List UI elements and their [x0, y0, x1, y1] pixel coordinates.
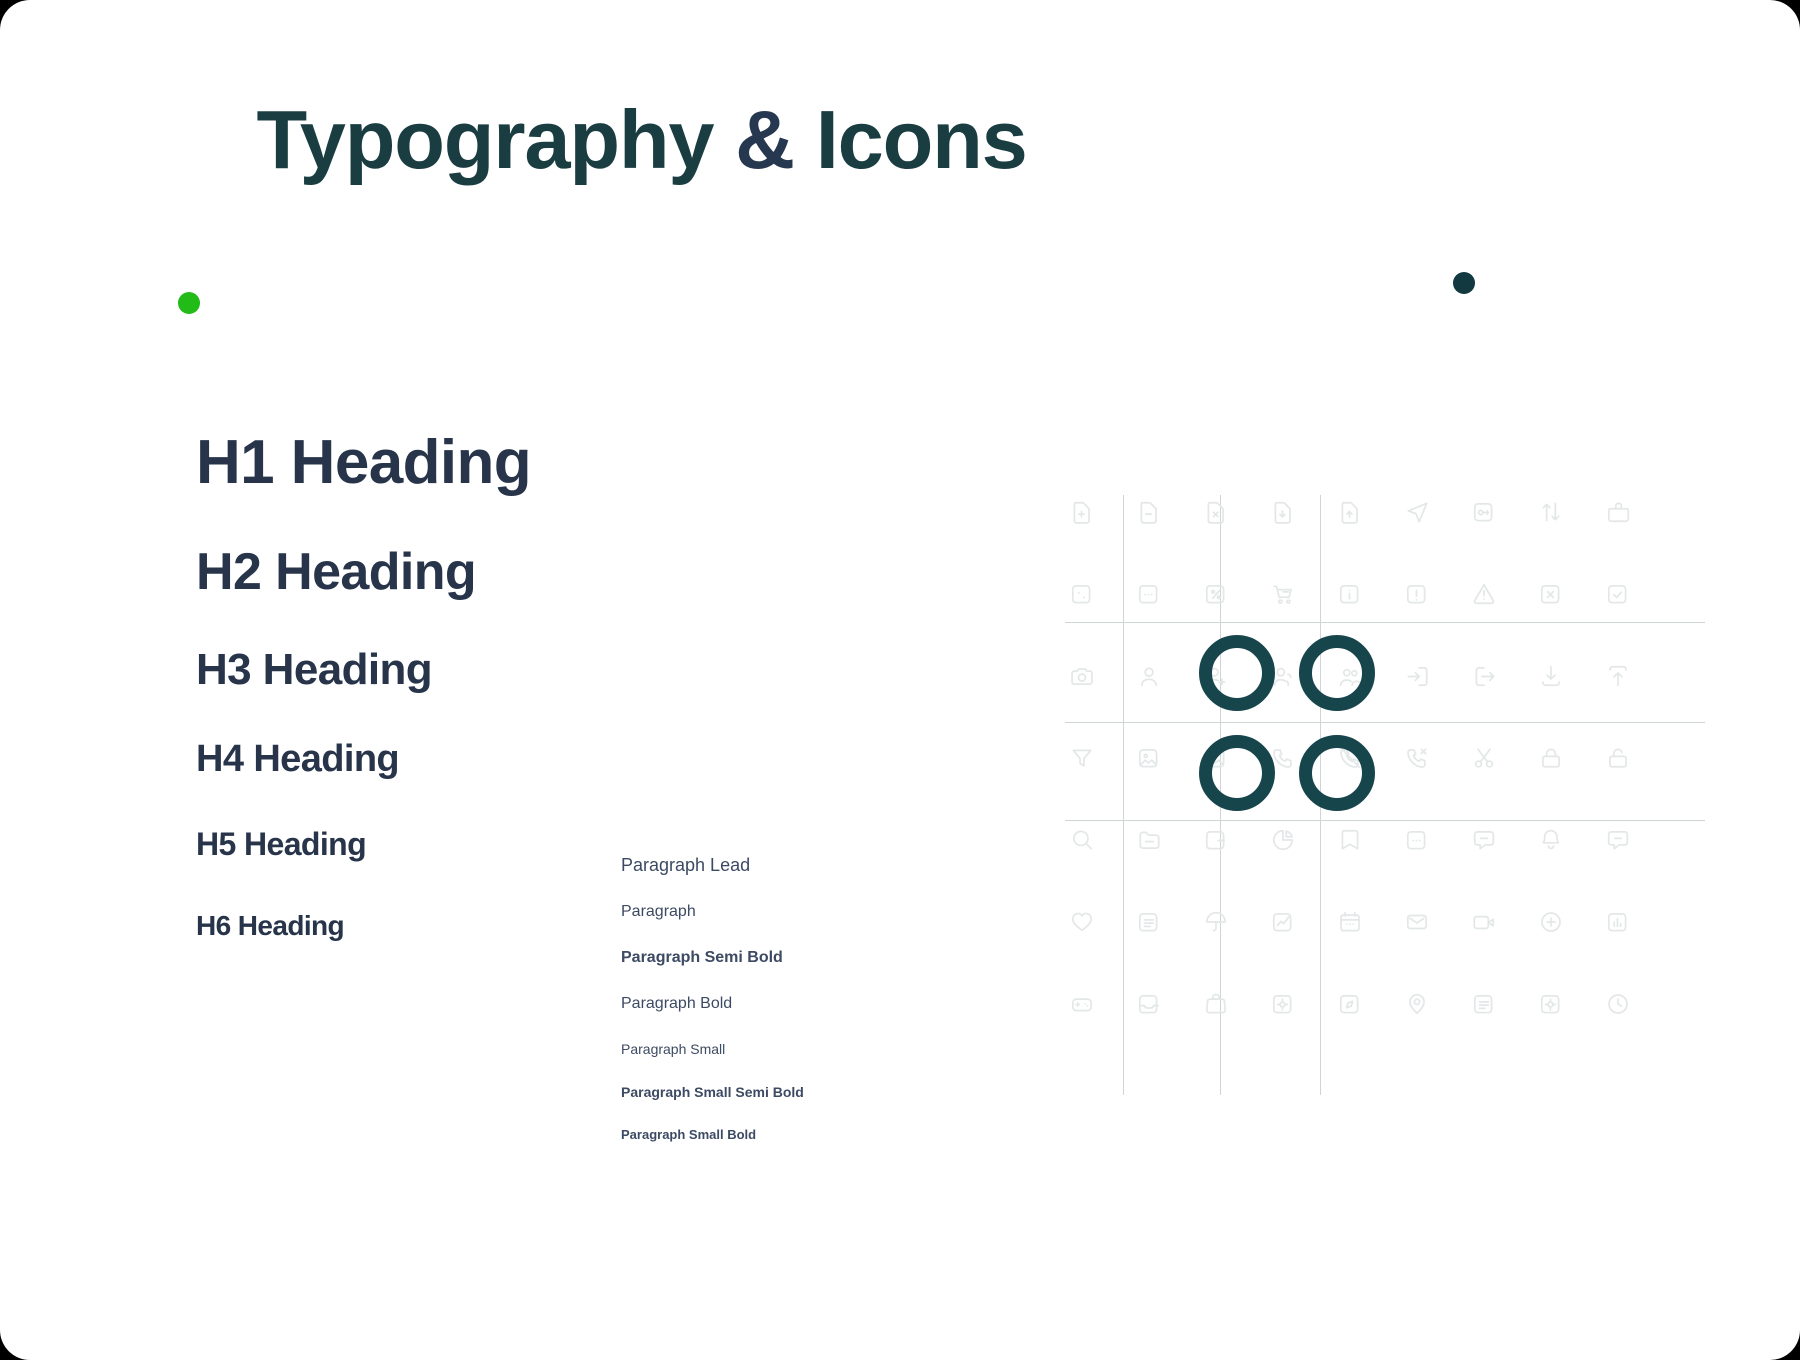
search-icon — [1065, 823, 1099, 857]
grid-guide-horizontal-2 — [1065, 722, 1705, 723]
login-icon — [1400, 659, 1434, 693]
page-title: Typography & Icons — [0, 92, 1283, 188]
settings-box-icon — [1266, 987, 1300, 1021]
inbox-icon — [1132, 987, 1166, 1021]
sort-updown-icon — [1534, 495, 1568, 529]
paragraph-specimen-list: Paragraph Lead Paragraph Paragraph Semi … — [621, 855, 921, 1142]
send-icon — [1400, 495, 1434, 529]
filter-icon — [1065, 741, 1099, 775]
info-icon — [1333, 577, 1367, 611]
green-accent-dot — [178, 292, 200, 314]
grid-guide-horizontal-1 — [1065, 622, 1705, 623]
scissors-icon — [1467, 741, 1501, 775]
briefcase-icon — [1601, 495, 1635, 529]
alert-triangle-icon — [1467, 577, 1501, 611]
heading-specimen-h6: H6 Heading — [196, 912, 656, 940]
video-icon — [1467, 905, 1501, 939]
heading-specimen-h1: H1 Heading — [196, 432, 656, 494]
cart-minus-icon — [1266, 577, 1300, 611]
phone-x-icon — [1400, 741, 1434, 775]
percent-icon — [1199, 577, 1233, 611]
paragraph-specimen-bold: Paragraph Bold — [621, 995, 921, 1013]
trending-up-icon — [1266, 905, 1300, 939]
paragraph-specimen-small: Paragraph Small — [621, 1041, 921, 1057]
gear-icon — [1534, 987, 1568, 1021]
heading-specimen-h4: H4 Heading — [196, 740, 656, 778]
paragraph-specimen-regular: Paragraph — [621, 903, 921, 921]
highlight-ring-4 — [1299, 735, 1375, 811]
clock-icon — [1601, 987, 1635, 1021]
dark-accent-dot — [1453, 272, 1475, 294]
apps-grid-icon — [1400, 823, 1434, 857]
page-title-part-1: Typography — [256, 93, 735, 186]
wallet-icon — [1199, 823, 1233, 857]
heading-specimen-h5: H5 Heading — [196, 828, 656, 860]
file-x-icon — [1199, 495, 1233, 529]
highlight-ring-1 — [1199, 635, 1275, 711]
compass-icon — [1333, 987, 1367, 1021]
heading-specimen-h3: H3 Heading — [196, 648, 656, 692]
check-square-icon — [1601, 577, 1635, 611]
icon-grid-panel — [1065, 495, 1705, 1095]
grid-guide-vertical-1 — [1123, 495, 1124, 1095]
page-title-part-2: Icons — [794, 93, 1027, 186]
page-title-ampersand: & — [735, 93, 794, 186]
x-square-icon — [1534, 577, 1568, 611]
bell-icon — [1534, 823, 1568, 857]
unlock-icon — [1601, 741, 1635, 775]
plus-circle-icon — [1534, 905, 1568, 939]
file-plus-icon — [1065, 495, 1099, 529]
logout-icon — [1467, 659, 1501, 693]
chat-dots-icon — [1601, 823, 1635, 857]
highlight-ring-2 — [1299, 635, 1375, 711]
shopping-bag-icon — [1199, 987, 1233, 1021]
paragraph-specimen-small-bold: Paragraph Small Bold — [621, 1127, 921, 1142]
grid-guide-horizontal-3 — [1065, 820, 1705, 821]
alert-square-icon — [1400, 577, 1434, 611]
heart-icon — [1065, 905, 1099, 939]
paragraph-specimen-semibold: Paragraph Semi Bold — [621, 949, 921, 967]
dice-icon — [1065, 577, 1099, 611]
highlight-ring-3 — [1199, 735, 1275, 811]
paragraph-specimen-small-semibold: Paragraph Small Semi Bold — [621, 1084, 921, 1100]
message-minus-icon — [1467, 823, 1501, 857]
mail-icon — [1400, 905, 1434, 939]
list-icon — [1467, 987, 1501, 1021]
pie-chart-icon — [1266, 823, 1300, 857]
umbrella-icon — [1199, 905, 1233, 939]
bar-chart-icon — [1601, 905, 1635, 939]
paragraph-specimen-lead: Paragraph Lead — [621, 855, 921, 876]
heading-specimen-list: H1 Heading H2 Heading H3 Heading H4 Head… — [196, 432, 656, 940]
file-upload-icon — [1333, 495, 1367, 529]
gamepad-icon — [1065, 987, 1099, 1021]
bookmark-icon — [1333, 823, 1367, 857]
download-icon — [1534, 659, 1568, 693]
lock-icon — [1534, 741, 1568, 775]
map-pin-icon — [1400, 987, 1434, 1021]
calendar-icon — [1333, 905, 1367, 939]
heading-specimen-h2: H2 Heading — [196, 546, 656, 598]
file-download-icon — [1266, 495, 1300, 529]
share-icon — [1601, 659, 1635, 693]
document-icon — [1132, 905, 1166, 939]
image-icon — [1132, 741, 1166, 775]
file-minus-icon — [1132, 495, 1166, 529]
folder-minus-icon — [1132, 823, 1166, 857]
dots-square-icon — [1132, 577, 1166, 611]
slide-card: Typography & Icons H1 Heading H2 Heading… — [0, 0, 1800, 1360]
camera-icon — [1065, 659, 1099, 693]
user-icon — [1132, 659, 1166, 693]
key-icon — [1467, 495, 1501, 529]
